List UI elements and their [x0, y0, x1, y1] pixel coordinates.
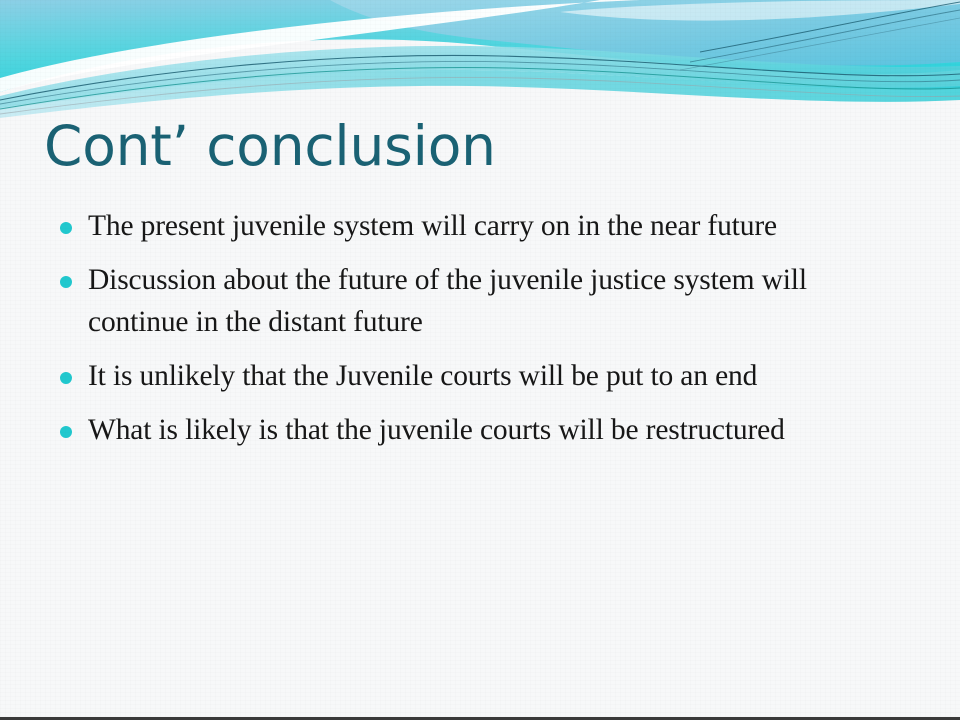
list-item-text: Discussion about the future of the juven… [88, 264, 807, 338]
list-item-text: What is likely is that the juvenile cour… [88, 414, 785, 446]
presentation-slide: Cont’ conclusion The present juvenile sy… [0, 0, 960, 720]
list-item-text: It is unlikely that the Juvenile courts … [88, 360, 757, 392]
bullet-list: The present juvenile system will carry o… [52, 206, 880, 451]
page-title: Cont’ conclusion [44, 118, 914, 176]
bullet-dot-icon [60, 276, 72, 288]
bullet-dot-icon [60, 372, 72, 384]
header-wave-banner [0, 0, 960, 130]
title-block: Cont’ conclusion [44, 118, 914, 176]
list-item-text: The present juvenile system will carry o… [88, 210, 777, 242]
list-item: It is unlikely that the Juvenile courts … [52, 356, 880, 398]
list-item: The present juvenile system will carry o… [52, 206, 880, 248]
list-item: Discussion about the future of the juven… [52, 260, 880, 344]
list-item: What is likely is that the juvenile cour… [52, 410, 880, 452]
bullet-dot-icon [60, 426, 72, 438]
bullet-dot-icon [60, 222, 72, 234]
